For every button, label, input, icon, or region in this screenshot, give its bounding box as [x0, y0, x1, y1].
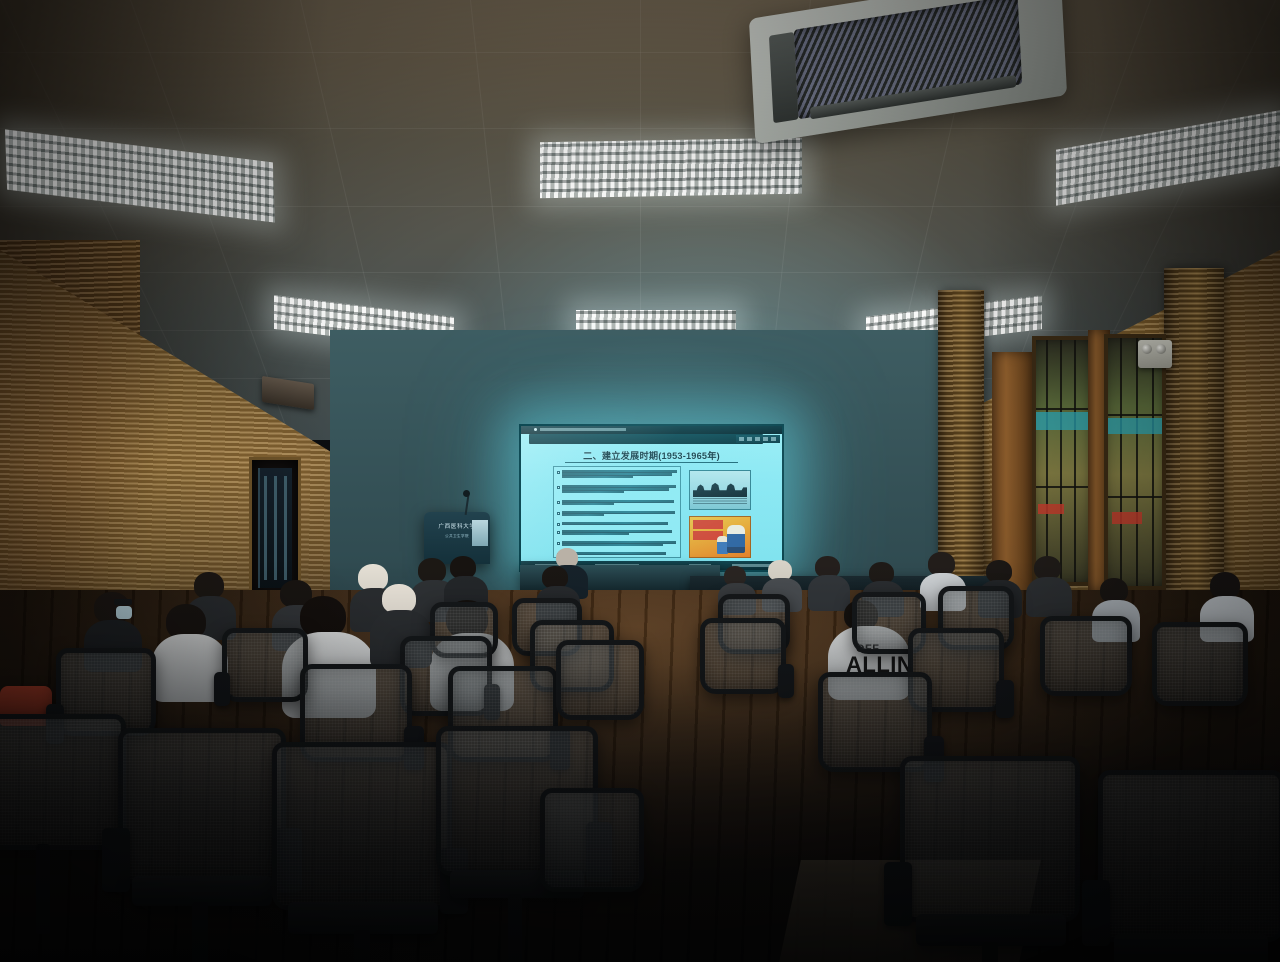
bullet-marker-icon [557, 542, 560, 545]
list-item [557, 470, 677, 479]
wall-mounted-device [1138, 340, 1172, 368]
lecture-hall-photo: 二、建立发展时期(1953-1965年) [0, 0, 1280, 962]
app-ribbon-toolbar[interactable] [529, 434, 763, 444]
slide-image-propaganda-poster [689, 516, 751, 558]
door-left-wall[interactable] [249, 457, 301, 599]
bullet-marker-icon [557, 523, 560, 526]
chair[interactable] [556, 640, 644, 720]
chair[interactable] [540, 788, 644, 892]
bullet-marker-icon [557, 531, 560, 534]
face-mask [116, 606, 132, 619]
app-titlebar-text [540, 428, 626, 431]
chair[interactable] [700, 618, 786, 694]
slide-title: 二、建立发展时期(1953-1965年) [521, 448, 782, 462]
app-ribbon-right-controls[interactable] [736, 435, 780, 443]
list-item [557, 522, 677, 526]
slide-title-underline [565, 462, 738, 463]
glasses-icon [114, 599, 132, 605]
chair[interactable] [1040, 616, 1132, 696]
podium-side-panel [472, 520, 488, 546]
chair[interactable] [1098, 770, 1280, 942]
slide-image-historic-building [689, 470, 751, 510]
list-item [557, 485, 677, 494]
bullet-marker-icon [557, 501, 560, 504]
app-icon [534, 428, 537, 431]
list-item [557, 541, 677, 547]
bullet-marker-icon [557, 471, 560, 474]
list-item [557, 500, 677, 506]
chair[interactable] [1152, 622, 1248, 706]
list-item [557, 511, 677, 517]
slide-bullet-list [553, 466, 681, 558]
bullet-marker-icon [557, 486, 560, 489]
app-titlebar [521, 426, 782, 434]
chair[interactable] [222, 628, 308, 702]
window-right-near [1104, 334, 1166, 590]
bullet-marker-icon [557, 512, 560, 515]
window-right-far [1032, 336, 1092, 586]
chair[interactable] [272, 742, 452, 910]
microphone-icon [463, 490, 470, 497]
chair[interactable] [118, 728, 286, 884]
chair[interactable] [900, 756, 1080, 922]
list-item [557, 530, 677, 536]
ceiling-light-fixture [540, 138, 802, 199]
